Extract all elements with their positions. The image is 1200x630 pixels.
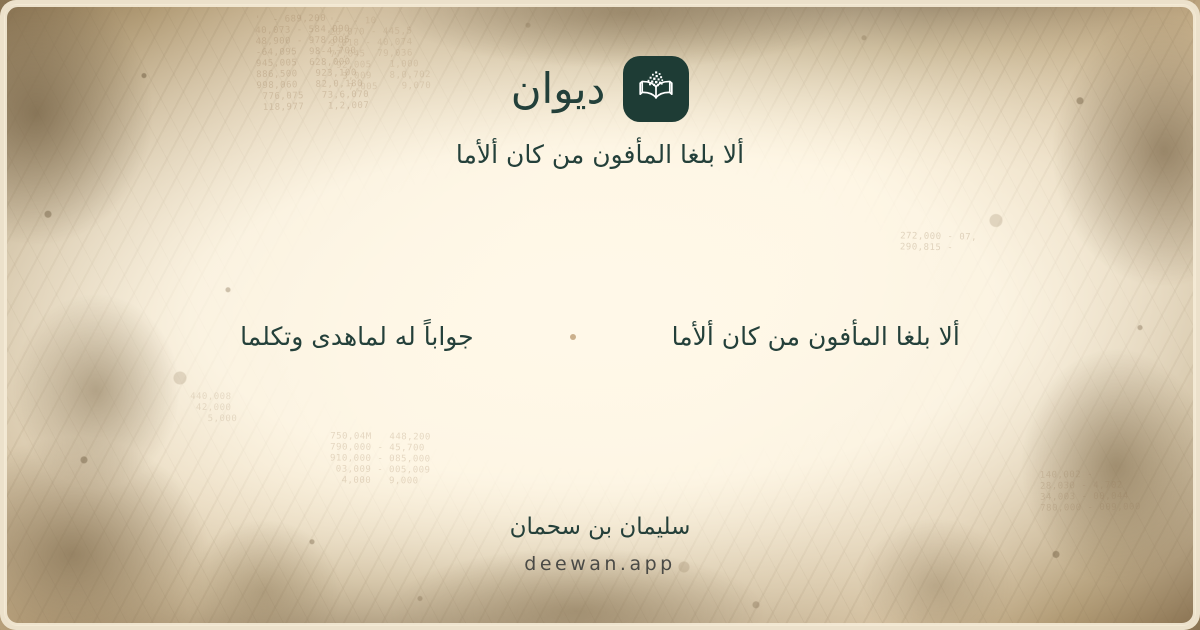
site-url: deewan.app [0,553,1200,576]
brand-wordmark: ديوان [511,68,606,110]
poem-verse-line: ألا بلغا المأفون من كان ألأما جواباً له … [0,318,1200,356]
poem-title: ألا بلغا المأفون من كان ألأما [0,136,1200,174]
verse-left-hemistich: جواباً له لماهدى وتكلما [240,318,474,356]
verse-right-hemistich: ألا بلغا المأفون من كان ألأما [672,318,960,356]
open-book-sparkles-icon [634,67,678,111]
poem-title-text: ألا بلغا المأفون من كان ألأما [456,140,744,169]
dot-separator-icon [570,334,576,340]
deewan-logo-badge [623,56,689,122]
card-content: ديوان ألا بلغا المأفون من كان ألأما ألا … [0,0,1200,630]
poem-share-card: ' - 689,200 40,073 - 584,090 48,900 - 97… [0,0,1200,630]
brand-header: ديوان [0,56,1200,122]
card-footer: سليمان بن سحمان deewan.app [0,512,1200,576]
poem-author: سليمان بن سحمان [0,512,1200,543]
